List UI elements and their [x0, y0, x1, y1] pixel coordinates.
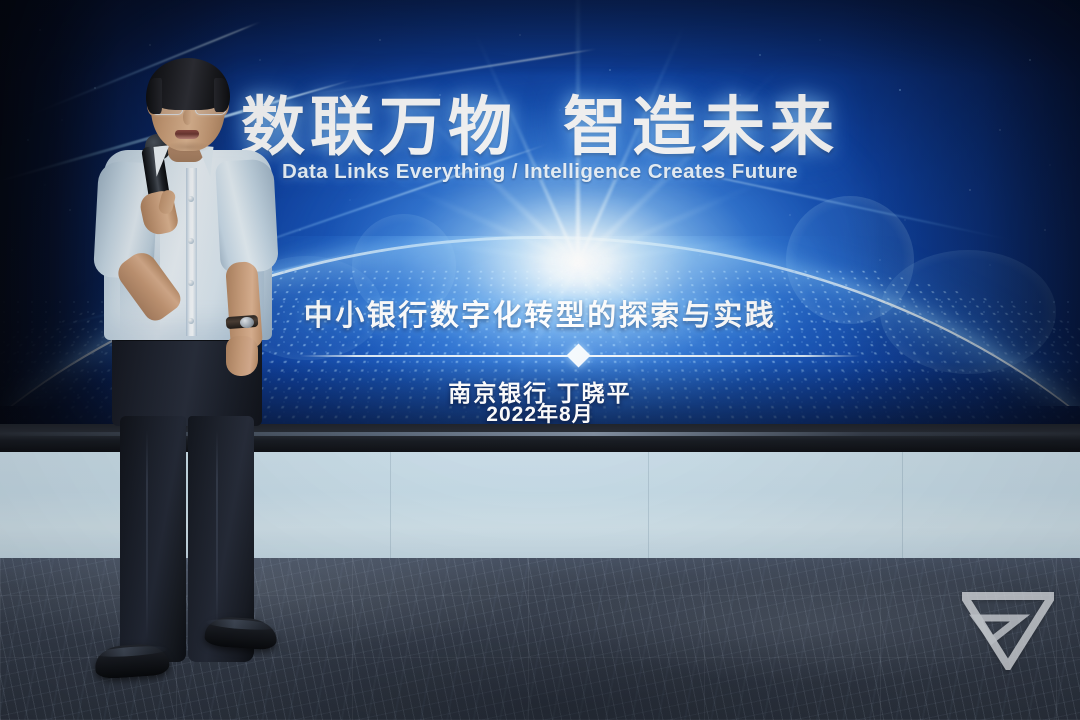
carpet-shading [0, 556, 1080, 720]
screen-bottom-bezel [0, 424, 1080, 452]
screenshot-root: 数联万物智造未来 Data Links Everything / Intelli… [0, 0, 1080, 720]
wall-panel [0, 448, 1080, 558]
slide-text-layer: 数联万物智造未来 Data Links Everything / Intelli… [0, 0, 1080, 428]
diamond-icon [566, 343, 590, 367]
slide-main-title: 数联万物智造未来 [0, 95, 1080, 159]
main-title-left: 数联万物 [241, 91, 517, 163]
floor [0, 556, 1080, 720]
main-title-right: 智造未来 [563, 91, 839, 163]
slide-subtitle-english: Data Links Everything / Intelligence Cre… [0, 160, 1080, 184]
bezel-highlight [0, 432, 1080, 436]
slide-topic-title: 中小银行数字化转型的探索与实践 [0, 292, 1080, 334]
led-video-wall: 数联万物智造未来 Data Links Everything / Intelli… [0, 0, 1080, 452]
slide-surface: 数联万物智造未来 Data Links Everything / Intelli… [0, 0, 1080, 428]
watermark-logo-icon [962, 588, 1054, 670]
